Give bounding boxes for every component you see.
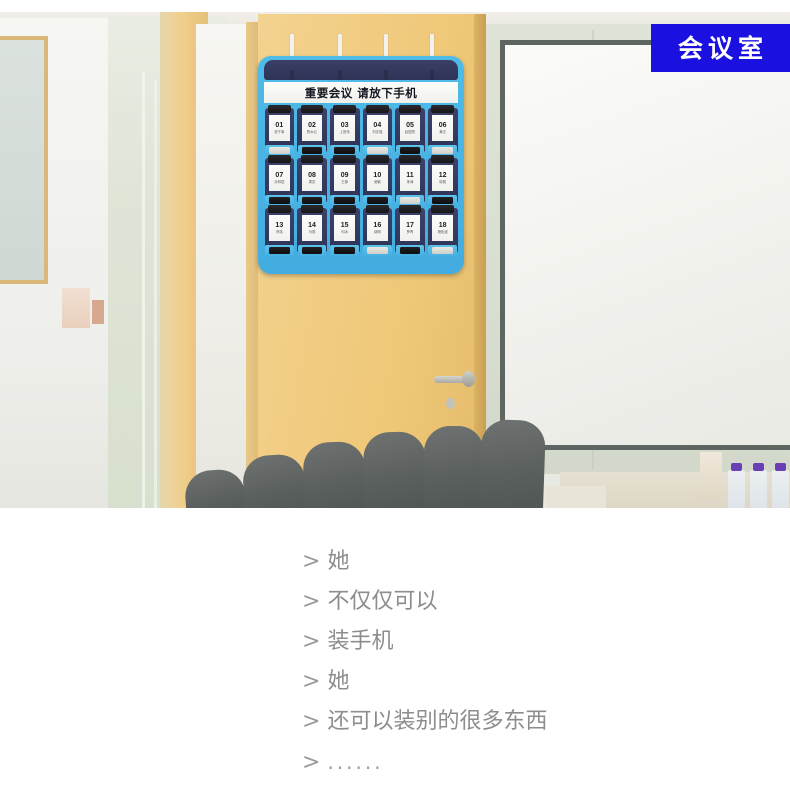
phone-device (269, 247, 290, 254)
pocket-lip (298, 245, 327, 256)
pocket-label-card: 03上官伟 (334, 115, 355, 141)
pocket-number: 13 (275, 222, 283, 229)
caption-text: 她 (327, 662, 349, 702)
pocket-number: 17 (406, 222, 414, 229)
pocket-label-card: 16胡明 (367, 215, 388, 241)
pocket-name-label: 吴敏 (374, 181, 381, 184)
caption-text: 不仅仅可以 (327, 582, 437, 622)
bottle-cap (753, 463, 764, 471)
phone-device (301, 155, 324, 163)
pocket-name-label: 周凯 (309, 181, 316, 184)
pocket-label-card: 17罗青 (400, 215, 421, 241)
pocket-lip (265, 245, 294, 256)
caption-text: 装手机 (327, 622, 393, 662)
phone-pocket: 16胡明 (361, 206, 394, 256)
pocket-label-card: 02陈木云 (302, 115, 323, 141)
meeting-room-photo: 重要会议 请放下手机 01张干事02陈木云03上官伟04刘志强05赵国茂06黄达… (0, 0, 790, 508)
phone-pocket: 09王静 (328, 156, 361, 206)
phone-pocket: 13郑伟 (263, 206, 296, 256)
glass-reflection-line-1 (142, 72, 145, 508)
door-handle-base (462, 371, 475, 387)
meeting-chair (424, 426, 484, 508)
pocket-number: 06 (439, 122, 447, 129)
pocket-name-label: 何冰 (341, 231, 348, 234)
pocket-label-card: 13郑伟 (269, 215, 290, 241)
pocket-label-card: 09王静 (334, 165, 355, 191)
phone-device (268, 205, 291, 213)
phone-pocket: 17罗青 (394, 206, 427, 256)
caption-text: 还可以装别的很多东西 (327, 702, 547, 742)
pocket-name-label: 胡明 (374, 231, 381, 234)
grommet-hook-icon (338, 70, 342, 80)
pocket-name-label: 马燕 (309, 231, 316, 234)
pocket-name-label: 张干事 (274, 131, 284, 134)
conference-table-edge (546, 486, 606, 508)
pocket-number: 15 (341, 222, 349, 229)
phone-pocket: 04刘志强 (361, 106, 394, 156)
phone-device (366, 205, 389, 213)
phone-pocket: 07孙林斌 (263, 156, 296, 206)
pocket-number: 03 (341, 122, 349, 129)
pocket-label-card: 15何冰 (334, 215, 355, 241)
bottle-cap (775, 463, 786, 471)
caption-bullet-mark: > (302, 582, 320, 622)
pocket-label-card: 08周凯 (302, 165, 323, 191)
phone-device (301, 105, 324, 113)
wall-notice-paper-2 (92, 300, 104, 324)
organizer-banner-text: 重要会议 请放下手机 (305, 85, 418, 101)
caption-line: >她 (302, 542, 547, 582)
caption-bullet-mark: > (302, 743, 320, 783)
pocket-label-card: 05赵国茂 (400, 115, 421, 141)
pocket-number: 02 (308, 122, 316, 129)
pocket-label-card: 18杨松波 (432, 215, 453, 241)
phone-device (399, 105, 422, 113)
phone-device (334, 247, 355, 254)
phone-pocket: 03上官伟 (328, 106, 361, 156)
room-badge: 会议室 (651, 24, 790, 72)
pocket-number: 01 (275, 122, 283, 129)
phone-device (366, 105, 389, 113)
phone-pocket: 12徐丽 (426, 156, 459, 206)
caption-bullet-mark: > (302, 702, 320, 742)
meeting-chair (478, 419, 546, 508)
caption-line: >不仅仅可以 (302, 582, 547, 622)
caption-line: >她 (302, 662, 547, 702)
pocket-name-label: 陈木云 (307, 131, 317, 134)
pocket-label-card: 04刘志强 (367, 115, 388, 141)
phone-device (269, 147, 290, 154)
grommet-hook-icon (430, 70, 434, 80)
room-badge-label: 会议室 (673, 36, 768, 61)
phone-device (268, 105, 291, 113)
pocket-label-card: 06黄达 (432, 115, 453, 141)
pocket-label-card: 10吴敏 (367, 165, 388, 191)
glass-reflection-line-2 (154, 80, 157, 508)
top-white-margin (0, 0, 790, 12)
phone-device (366, 155, 389, 163)
phone-device (301, 205, 324, 213)
page-root: 重要会议 请放下手机 01张干事02陈木云03上官伟04刘志强05赵国茂06黄达… (0, 0, 790, 799)
water-bottle (772, 470, 789, 508)
pocket-name-label: 刘志强 (372, 131, 382, 134)
pocket-name-label: 徐丽 (439, 181, 446, 184)
phone-device (302, 147, 323, 154)
phone-device (269, 197, 290, 204)
phone-pocket: 14马燕 (296, 206, 329, 256)
pocket-name-label: 孙林斌 (274, 181, 284, 184)
phone-organizer: 重要会议 请放下手机 01张干事02陈木云03上官伟04刘志强05赵国茂06黄达… (258, 34, 464, 274)
bottle-cap (731, 463, 742, 471)
caption-text: ...... (327, 742, 383, 782)
pocket-name-label: 朱涛 (407, 181, 414, 184)
caption-line: >还可以装别的很多东西 (302, 702, 547, 742)
pocket-label-card: 11朱涛 (400, 165, 421, 191)
pocket-lip (330, 245, 359, 256)
caption-list: >她>不仅仅可以>装手机>她>还可以装别的很多东西>...... (302, 542, 547, 783)
pocket-name-label: 上官伟 (340, 131, 350, 134)
pocket-lip (363, 245, 392, 256)
phone-device (431, 105, 454, 113)
phone-device (302, 197, 323, 204)
paper-stack (700, 452, 722, 500)
caption-bullet-mark: > (302, 662, 320, 702)
phone-pocket: 11朱涛 (394, 156, 427, 206)
caption-block: >她>不仅仅可以>装手机>她>还可以装别的很多东西>...... (0, 508, 790, 799)
pocket-number: 08 (308, 172, 316, 179)
phone-device (333, 105, 356, 113)
phone-device (400, 197, 421, 204)
meeting-chair (302, 441, 367, 508)
caption-bullet-mark: > (302, 622, 320, 662)
phone-pocket: 06黄达 (426, 106, 459, 156)
water-bottle (750, 470, 767, 508)
pocket-name-label: 黄达 (439, 131, 446, 134)
phone-device (367, 147, 388, 154)
pocket-name-label: 赵国茂 (405, 131, 415, 134)
wall-picture-frame (0, 36, 48, 284)
caption-bullet-mark: > (302, 542, 320, 582)
phone-pocket: 08周凯 (296, 156, 329, 206)
pocket-number: 09 (341, 172, 349, 179)
pocket-number: 05 (406, 122, 414, 129)
phone-device (432, 247, 453, 254)
phone-pocket: 18杨松波 (426, 206, 459, 256)
pocket-number: 07 (275, 172, 283, 179)
pocket-number: 16 (373, 222, 381, 229)
organizer-body: 重要会议 请放下手机 01张干事02陈木云03上官伟04刘志强05赵国茂06黄达… (258, 56, 464, 274)
organizer-banner: 重要会议 请放下手机 (264, 82, 458, 103)
phone-device (431, 155, 454, 163)
pocket-number: 10 (373, 172, 381, 179)
water-bottle (728, 470, 745, 508)
pocket-number: 14 (308, 222, 316, 229)
pocket-grid: 01张干事02陈木云03上官伟04刘志强05赵国茂06黄达07孙林斌08周凯09… (263, 106, 459, 256)
grommet-hook-icon (384, 70, 388, 80)
pocket-name-label: 王静 (341, 181, 348, 184)
phone-device (432, 147, 453, 154)
phone-device (302, 247, 323, 254)
phone-device (399, 205, 422, 213)
pocket-number: 18 (439, 222, 447, 229)
pocket-name-label: 罗青 (407, 231, 414, 234)
pocket-lip (428, 245, 457, 256)
phone-device (268, 155, 291, 163)
caption-text: 她 (327, 542, 349, 582)
phone-device (333, 155, 356, 163)
phone-device (367, 247, 388, 254)
pocket-number: 04 (373, 122, 381, 129)
phone-pocket: 02陈木云 (296, 106, 329, 156)
phone-device (431, 205, 454, 213)
phone-device (334, 147, 355, 154)
pocket-label-card: 12徐丽 (432, 165, 453, 191)
pocket-label-card: 07孙林斌 (269, 165, 290, 191)
pocket-number: 12 (439, 172, 447, 179)
phone-pocket: 10吴敏 (361, 156, 394, 206)
pocket-label-card: 01张干事 (269, 115, 290, 141)
pocket-name-label: 杨松波 (438, 231, 448, 234)
phone-device (400, 147, 421, 154)
pocket-label-card: 14马燕 (302, 215, 323, 241)
phone-device (400, 247, 421, 254)
grommet-hook-icon (290, 70, 294, 80)
phone-pocket: 15何冰 (328, 206, 361, 256)
meeting-chair (363, 431, 427, 508)
phone-device (432, 197, 453, 204)
pocket-name-label: 郑伟 (276, 231, 283, 234)
pocket-number: 11 (406, 172, 413, 179)
phone-device (367, 197, 388, 204)
caption-line: >...... (302, 742, 547, 783)
phone-pocket: 01张干事 (263, 106, 296, 156)
phone-device (399, 155, 422, 163)
pocket-lip (396, 245, 425, 256)
door-lock (446, 398, 455, 409)
caption-line: >装手机 (302, 622, 547, 662)
phone-pocket: 05赵国茂 (394, 106, 427, 156)
wall-notice-paper (62, 288, 90, 328)
phone-device (334, 197, 355, 204)
phone-device (333, 205, 356, 213)
whiteboard-screen (500, 40, 790, 450)
